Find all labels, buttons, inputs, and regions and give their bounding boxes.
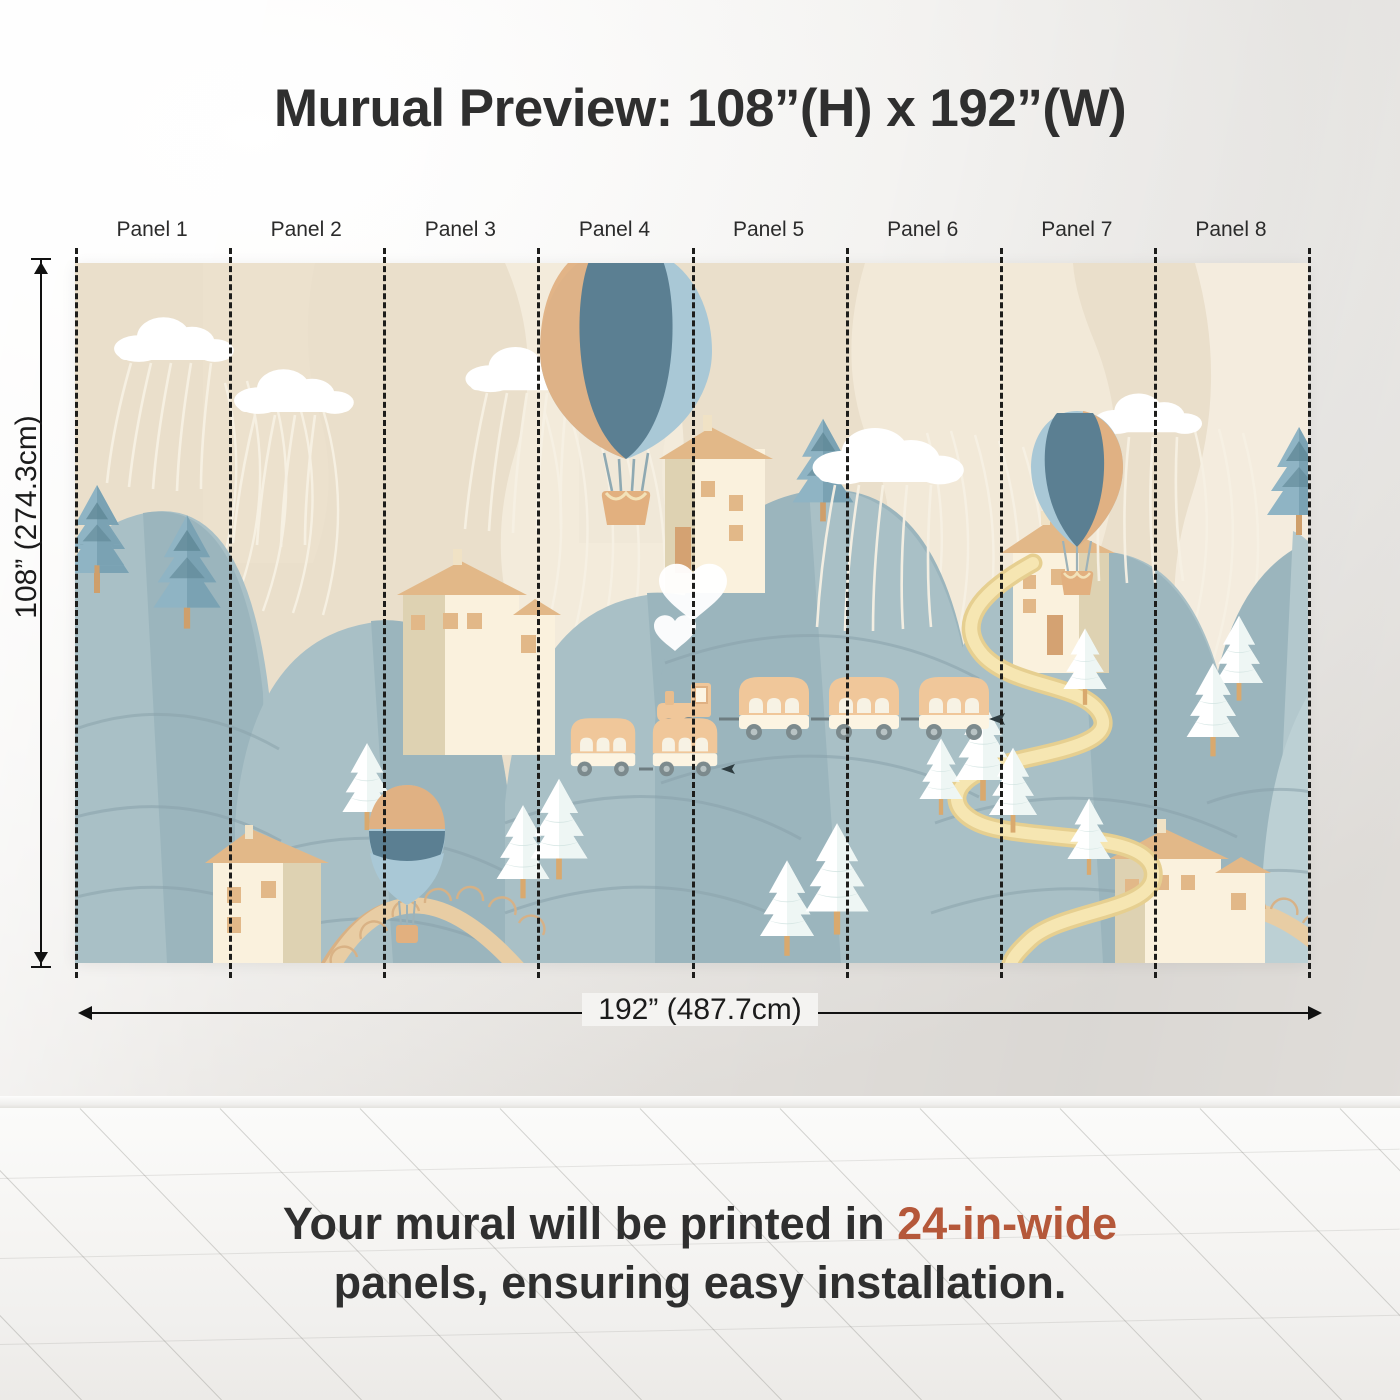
floor-board-break-2 [0,1315,1400,1345]
footer-line-1: Your mural will be printed in 24-in-wide [0,1195,1400,1254]
floor-board-break-0 [0,1149,1400,1179]
panel-divider-0 [75,248,78,978]
footer-caption: Your mural will be printed in 24-in-wide… [0,1195,1400,1312]
height-arrow-down [34,952,48,964]
page-title: Murual Preview: 108”(H) x 192”(W) [0,78,1400,139]
height-cap-top [31,258,51,260]
panel-divider-6 [1000,248,1003,978]
width-label: 192” (487.7cm) [0,993,1400,1027]
footer-highlight: 24-in-wide [897,1198,1117,1249]
panel-label-7: Panel 7 [1000,218,1154,242]
panel-divider-2 [383,248,386,978]
panel-divider-8 [1308,248,1311,978]
panel-divider-7 [1154,248,1157,978]
panel-divider-3 [537,248,540,978]
panel-label-6: Panel 6 [846,218,1000,242]
panel-divider-1 [229,248,232,978]
width-label-text: 192” (487.7cm) [582,993,817,1026]
panel-label-5: Panel 5 [692,218,846,242]
panel-divider-4 [692,248,695,978]
panel-label-8: Panel 8 [1154,218,1308,242]
height-label: 108” (274.3cm) [10,347,44,687]
preview-page: Murual Preview: 108”(H) x 192”(W) [0,0,1400,1400]
height-cap-bottom [31,966,51,968]
height-arrow-up [34,262,48,274]
panel-label-2: Panel 2 [229,218,383,242]
footer-line-2: panels, ensuring easy installation. [0,1254,1400,1313]
panel-label-1: Panel 1 [75,218,229,242]
panel-label-4: Panel 4 [537,218,691,242]
footer-line-1-prefix: Your mural will be printed in [283,1198,897,1249]
panel-label-3: Panel 3 [383,218,537,242]
panel-divider-5 [846,248,849,978]
